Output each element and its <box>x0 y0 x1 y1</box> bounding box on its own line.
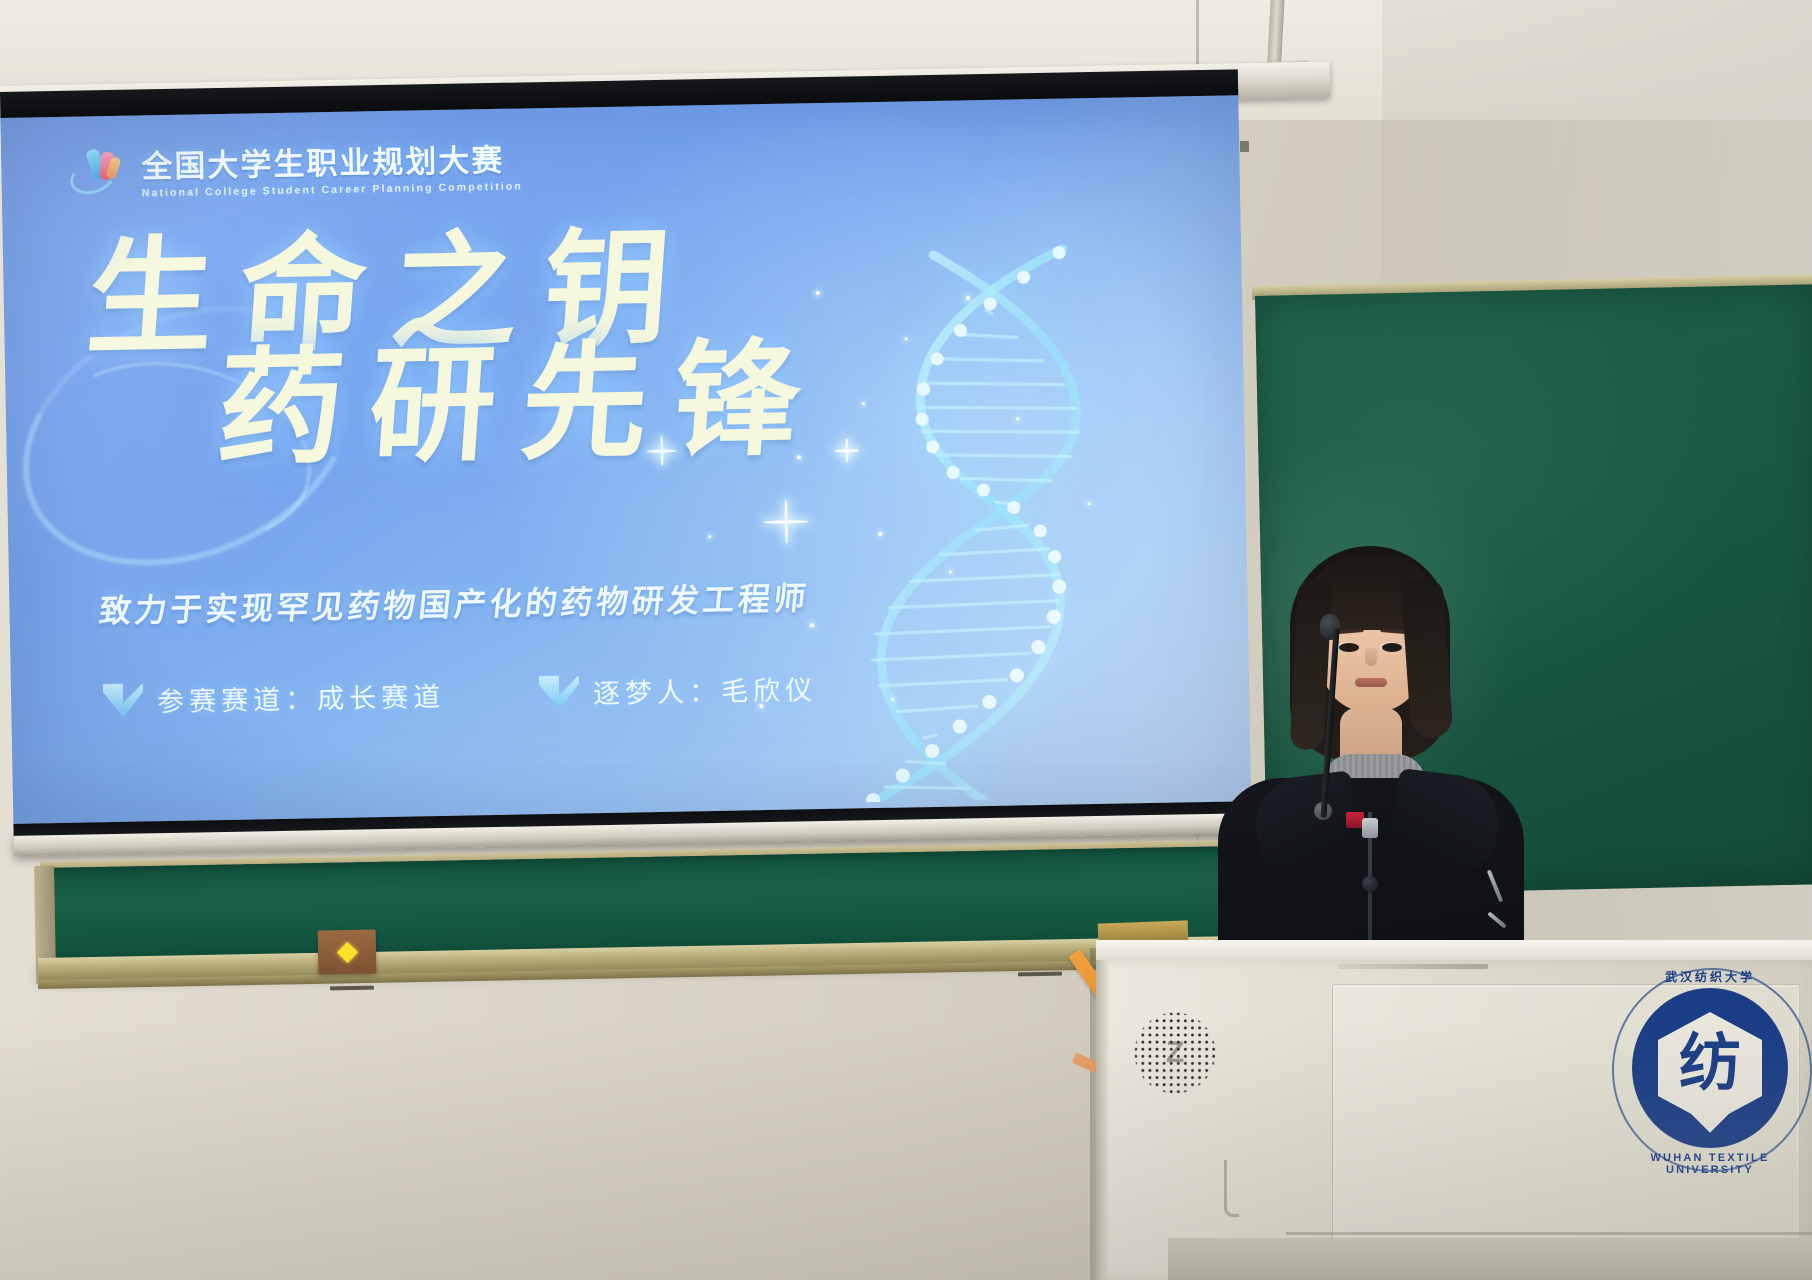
projected-slide: 全国大学生职业规划大赛 National College Student Car… <box>0 95 1251 824</box>
mouth <box>1355 678 1387 687</box>
tray-clip <box>330 986 374 991</box>
presenter <box>1210 540 1530 960</box>
chevron-down-icon <box>103 683 144 718</box>
floor-shadow <box>0 1020 1812 1280</box>
brand-square-icon <box>1240 140 1249 151</box>
competition-logo-text: 全国大学生职业规划大赛 National College Student Car… <box>141 134 523 199</box>
chalkboard-magnet[interactable] <box>318 929 377 974</box>
meta-track-label: 参赛赛道：成长赛道 <box>157 675 446 719</box>
competition-logo-icon <box>67 147 130 196</box>
podium-slot <box>1338 964 1488 969</box>
slide-subtitle: 致力于实现罕见药物国产化的药物研发工程师 <box>97 573 812 632</box>
classroom-scene: 全国大学生职业规划大赛 National College Student Car… <box>0 0 1812 1280</box>
tray-clip <box>1018 972 1062 977</box>
slide-meta-row: 参赛赛道：成长赛道 逐梦人：毛欣仪 <box>103 668 818 720</box>
jacket-button <box>1362 876 1378 892</box>
projection-screen[interactable]: 全国大学生职业规划大赛 National College Student Car… <box>0 69 1252 852</box>
meta-presenter-label: 逐梦人：毛欣仪 <box>593 668 818 711</box>
competition-logo: 全国大学生职业规划大赛 National College Student Car… <box>67 134 523 200</box>
meta-item-presenter: 逐梦人：毛欣仪 <box>539 668 818 712</box>
slide-title: 生命之钥 药研先锋 <box>87 221 827 475</box>
nose <box>1365 648 1377 666</box>
slide-content: 全国大学生职业规划大赛 National College Student Car… <box>0 95 1251 824</box>
university-name-cn: 武汉纺织大学 <box>1606 968 1812 985</box>
dna-helix-graphic <box>823 237 1133 802</box>
sparkle-icon <box>764 499 809 544</box>
competition-name-cn: 全国大学生职业规划大赛 <box>141 134 523 186</box>
chevron-down-icon <box>539 675 580 710</box>
dna-helix-svg <box>823 237 1133 802</box>
slide-title-line-2: 药研先锋 <box>213 333 830 473</box>
jacket-zipper-pull <box>1362 818 1378 838</box>
meta-item-track: 参赛赛道：成长赛道 <box>103 675 446 720</box>
